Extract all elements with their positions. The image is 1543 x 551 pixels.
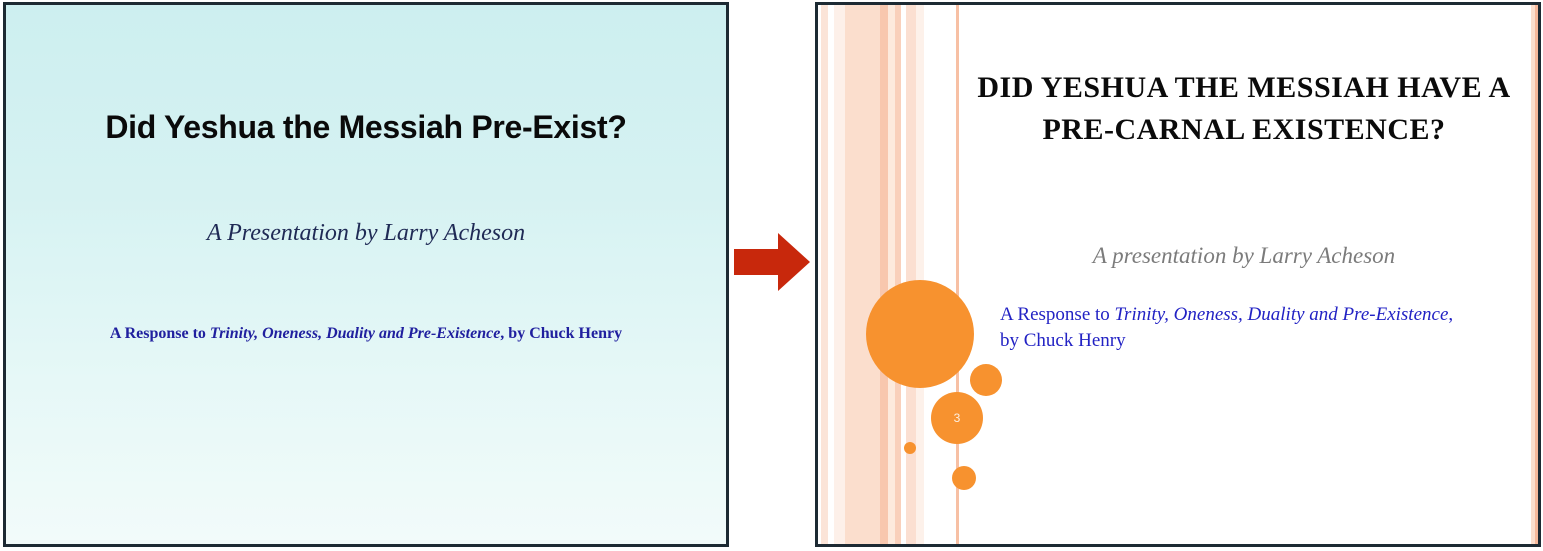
original-title-slide[interactable]: Did Yeshua the Messiah Pre-Exist? A Pres…: [3, 2, 729, 547]
decorative-bubble-tiny: [904, 442, 916, 454]
decorative-bubble-small-lower: [952, 466, 976, 490]
decorative-stripes: [818, 5, 978, 544]
redesigned-body-second-line: by Chuck Henry: [1000, 330, 1126, 351]
original-slide-canvas: Did Yeshua the Messiah Pre-Exist? A Pres…: [6, 5, 726, 544]
redesigned-body-book-title: Trinity, Oneness, Duality and Pre-Existe…: [1115, 304, 1449, 325]
decorative-bubble-small-upper: [970, 364, 1002, 396]
original-body-prefix: A Response to: [110, 325, 210, 342]
original-body-book-title: Trinity, Oneness, Duality and Pre-Existe…: [210, 325, 500, 342]
redesigned-slide-canvas: 3 DID YESHUA THE MESSIAH HAVE A PRE-CARN…: [818, 5, 1538, 544]
redesigned-slide-title: DID YESHUA THE MESSIAH HAVE A PRE-CARNAL…: [968, 67, 1520, 151]
original-slide-subtitle: A Presentation by Larry Acheson: [6, 220, 726, 247]
redesigned-slide-body: A Response to Trinity, Oneness, Duality …: [1000, 302, 1514, 354]
original-slide-title: Did Yeshua the Messiah Pre-Exist?: [6, 109, 726, 146]
decorative-bubble-large: [866, 280, 974, 388]
right-arrow-icon: [726, 231, 812, 293]
redesigned-body-prefix: A Response to: [1000, 304, 1115, 325]
decorative-bubble-numbered: 3: [931, 392, 983, 444]
redesigned-slide-subtitle: A presentation by Larry Acheson: [968, 243, 1520, 269]
original-body-suffix: , by Chuck Henry: [500, 325, 622, 342]
redesigned-body-suffix: ,: [1448, 304, 1453, 325]
decorative-stripe-right: [1529, 5, 1538, 544]
original-slide-body: A Response to Trinity, Oneness, Duality …: [6, 325, 726, 343]
redesigned-title-slide[interactable]: 3 DID YESHUA THE MESSIAH HAVE A PRE-CARN…: [815, 2, 1541, 547]
